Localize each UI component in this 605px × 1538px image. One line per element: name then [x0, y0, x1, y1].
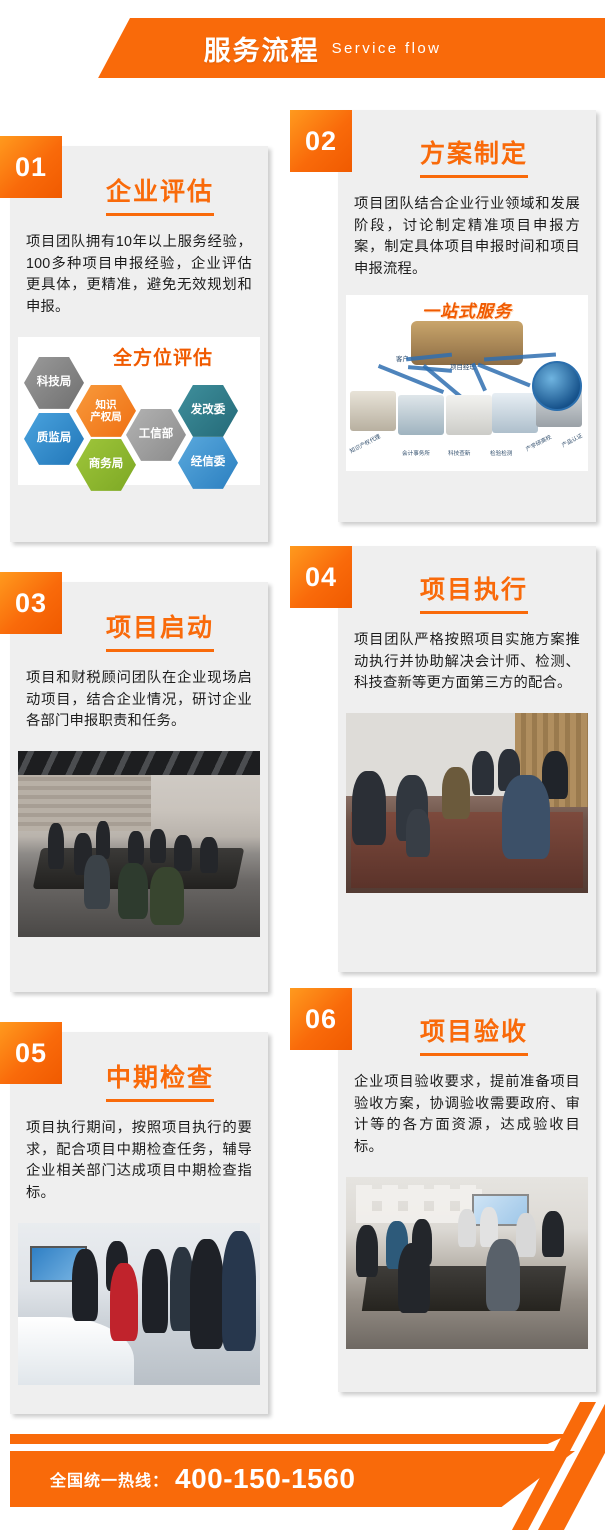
service-flow-poster: 服务流程 Service flow 01 企业评估 项目团队拥有10年以上服务经…	[0, 0, 605, 1538]
person-figure	[458, 1209, 476, 1247]
diagram-node-label: 科技查新	[448, 449, 470, 457]
step-title: 方案制定	[420, 134, 528, 178]
step-title-row: 项目执行	[338, 546, 596, 614]
person-figure	[72, 1249, 98, 1321]
person-figure	[190, 1239, 224, 1349]
step-title-row: 方案制定	[338, 110, 596, 178]
diagram-node-inspection	[492, 393, 538, 433]
step-number-badge: 02	[290, 110, 352, 172]
person-figure	[398, 1243, 430, 1313]
hex-node-zhishichanquan-ju: 知识产权局	[76, 385, 136, 437]
hex-node-zhijian-ju: 质监局	[24, 413, 84, 465]
step-number-badge: 05	[0, 1022, 62, 1084]
person-figure	[472, 751, 494, 795]
person-figure-red-coat	[110, 1263, 138, 1341]
step-title: 项目验收	[420, 1012, 528, 1056]
step-body: 项目团队拥有10年以上服务经验，100多种项目申报经验，企业评估更具体，更精准，…	[10, 216, 268, 331]
step-card-02[interactable]: 02 方案制定 项目团队结合企业行业领域和发展阶段，讨论制定精准项目申报方案，制…	[338, 110, 596, 522]
person-figure	[150, 867, 184, 925]
person-figure	[542, 1211, 564, 1257]
hex-node-jingxin-wei: 经信委	[178, 437, 238, 489]
ceiling-pattern	[18, 751, 260, 775]
step-number-badge: 04	[290, 546, 352, 608]
hex-node-gongxin-bu: 工信部	[126, 409, 186, 461]
step-photo	[18, 751, 260, 937]
step-photo	[18, 1223, 260, 1385]
step-body: 项目团队严格按照项目实施方案推动执行并协助解决会计师、检测、科技查新等更方面第三…	[338, 614, 596, 707]
step-body: 项目和财税顾问团队在企业现场启动项目，结合企业情况，研讨企业各部门申报职责和任务…	[10, 652, 268, 745]
infographic-title: 全方位评估	[113, 343, 213, 370]
person-figure	[352, 771, 386, 845]
person-figure	[84, 855, 110, 909]
step-card-04[interactable]: 04 项目执行 项目团队严格按照项目实施方案推动执行并协助解决会计师、检测、科技…	[338, 546, 596, 972]
step-photo	[346, 1177, 588, 1349]
person-figure	[150, 829, 166, 863]
step-title: 项目启动	[106, 608, 214, 652]
hex-node-keji-ju: 科技局	[24, 357, 84, 409]
step-title: 项目执行	[420, 570, 528, 614]
diagram-node-label: 检验检测	[490, 449, 512, 457]
page-footer: 全国统一热线： 400-150-1560	[0, 1418, 605, 1538]
assessment-hexagon-infographic: 全方位评估 科技局 知识产权局 发改委 质监局 工信部 商务局 经信委	[18, 337, 260, 485]
person-figure	[48, 823, 64, 869]
hotline-label: 全国统一热线：	[50, 1467, 169, 1491]
diagram-node-certification-seal	[532, 361, 582, 411]
footer-accent-stripe	[10, 1434, 570, 1444]
person-figure	[502, 775, 550, 859]
diagram-arrow	[477, 363, 530, 388]
step-title: 企业评估	[106, 172, 214, 216]
diagram-node-ip-agency	[350, 391, 396, 431]
conference-table	[362, 1266, 567, 1311]
person-figure	[406, 809, 430, 857]
step-body: 项目团队结合企业行业领域和发展阶段，讨论制定精准项目申报方案，制定具体项目申报时…	[338, 178, 596, 293]
page-header: 服务流程 Service flow	[0, 0, 605, 110]
person-figure	[174, 835, 192, 871]
hex-node-shangwu-ju: 商务局	[76, 439, 136, 491]
person-figure	[486, 1239, 520, 1311]
step-card-06[interactable]: 06 项目验收 企业项目验收要求，提前准备项目验收方案，协调验收需要政府、审计等…	[338, 988, 596, 1392]
person-figure	[442, 767, 470, 819]
step-card-03[interactable]: 03 项目启动 项目和财税顾问团队在企业现场启动项目，结合企业情况，研讨企业各部…	[10, 582, 268, 992]
diagram-node-label: 产学研高校	[524, 433, 552, 453]
person-figure	[516, 1213, 536, 1257]
step-number-badge: 01	[0, 136, 62, 198]
person-figure	[222, 1231, 256, 1351]
step-photo	[346, 713, 588, 893]
person-figure	[96, 821, 110, 859]
person-figure	[356, 1225, 378, 1277]
diagram-node-label: 知识产权代理	[348, 432, 381, 455]
header-title-group: 服务流程 Service flow	[0, 22, 605, 74]
hex-node-fagai-wei: 发改委	[178, 385, 238, 437]
step-card-01[interactable]: 01 企业评估 项目团队拥有10年以上服务经验，100多种项目申报经验，企业评估…	[10, 146, 268, 542]
person-figure	[142, 1249, 168, 1333]
page-title: 服务流程	[204, 29, 320, 68]
diagram-node-label: 产品认证	[560, 431, 584, 449]
step-title-row: 项目验收	[338, 988, 596, 1056]
page-subtitle: Service flow	[332, 40, 442, 57]
brick-wall	[18, 775, 151, 831]
diagram-node-label: 会计事务所	[402, 449, 430, 457]
hotline-group[interactable]: 全国统一热线： 400-150-1560	[50, 1451, 355, 1507]
step-card-05[interactable]: 05 中期检查 项目执行期间，按照项目执行的要求，配合项目中期检查任务，辅导企业…	[10, 1032, 268, 1414]
diagram-title: 一站式服务	[422, 297, 512, 322]
person-figure	[128, 831, 144, 865]
diagram-node-tech-search	[446, 395, 492, 435]
one-stop-service-diagram: 一站式服务 客户 项目经理 知识产权代理 会计事务所 科技查新 检验检测 产学研…	[346, 295, 588, 471]
person-figure	[200, 837, 218, 873]
step-body: 项目执行期间，按照项目执行的要求，配合项目中期检查任务，辅导企业相关部门达成项目…	[10, 1102, 268, 1217]
step-title: 中期检查	[106, 1058, 214, 1102]
diagram-node-accounting	[398, 395, 444, 435]
person-figure	[118, 863, 148, 919]
hotline-phone-number[interactable]: 400-150-1560	[175, 1463, 355, 1495]
step-number-badge: 06	[290, 988, 352, 1050]
step-number-badge: 03	[0, 572, 62, 634]
step-body: 企业项目验收要求，提前准备项目验收方案，协调验收需要政府、审计等的各方面资源，达…	[338, 1056, 596, 1171]
